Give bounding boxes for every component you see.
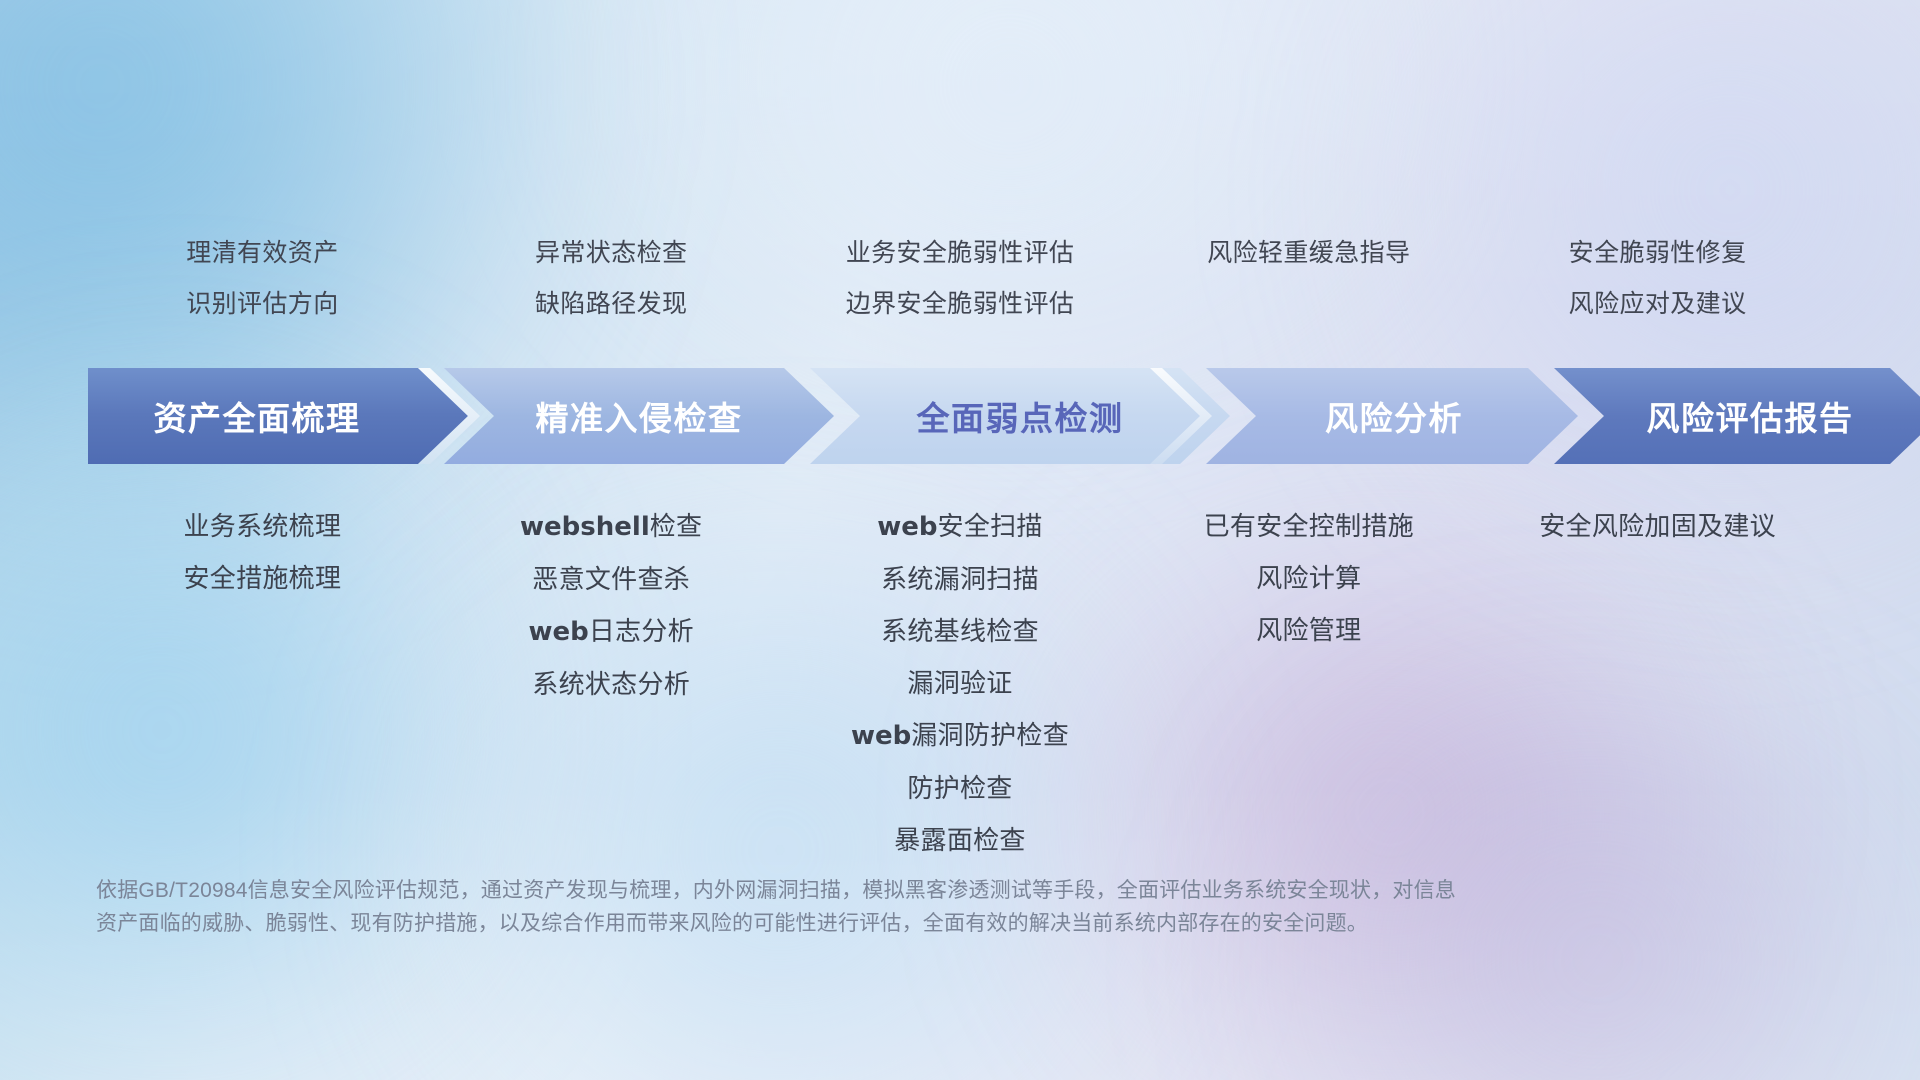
slide-canvas: 理清有效资产 识别评估方向 异常状态检查 缺陷路径发现 业务安全脆弱性评估 边界… <box>0 0 1920 1080</box>
bottom-items-column-5: 安全风险加固及建议 <box>1483 500 1832 552</box>
list-item: web安全扫描 <box>877 500 1042 553</box>
list-item: 恶意文件查杀 <box>532 553 690 605</box>
list-item-latin: web <box>877 512 937 542</box>
list-item-cjk: 安全扫描 <box>938 511 1043 541</box>
list-item-cjk: 日志分析 <box>589 616 694 646</box>
list-item-latin: web <box>528 617 588 647</box>
list-item: 风险计算 <box>1256 552 1361 604</box>
list-item: 系统漏洞扫描 <box>881 553 1039 605</box>
list-item-latin: webshell <box>520 512 650 542</box>
top-note: 边界安全脆弱性评估 <box>846 279 1075 330</box>
list-item-cjk: 检查 <box>650 511 703 541</box>
bottom-items-column-3: web安全扫描 系统漏洞扫描 系统基线检查 漏洞验证 web漏洞防护检查 防护检… <box>786 500 1135 866</box>
process-arrow-band: 资产全面梳理 精准入侵检查 全面弱点检测 风险分析 风险评估报告 <box>88 368 1840 464</box>
diagram-content: 理清有效资产 识别评估方向 异常状态检查 缺陷路径发现 业务安全脆弱性评估 边界… <box>0 0 1920 1080</box>
bottom-items-row: 业务系统梳理 安全措施梳理 webshell检查 恶意文件查杀 web日志分析 … <box>88 500 1832 866</box>
footer-line-1: 依据GB/T20984信息安全风险评估规范，通过资产发现与梳理，内外网漏洞扫描，… <box>96 874 1656 907</box>
footer-line-2: 资产面临的威胁、脆弱性、现有防护措施，以及综合作用而带来风险的可能性进行评估，全… <box>96 907 1656 940</box>
list-item: 防护检查 <box>907 762 1012 814</box>
list-item: web日志分析 <box>528 605 693 658</box>
list-item-latin: web <box>851 721 911 751</box>
list-item: 风险管理 <box>1256 604 1361 656</box>
stage-arrow-label: 风险分析 <box>1325 392 1463 440</box>
list-item: 系统状态分析 <box>532 658 690 710</box>
bottom-items-column-4: 已有安全控制措施 风险计算 风险管理 <box>1134 500 1483 656</box>
top-note: 安全脆弱性修复 <box>1569 228 1747 279</box>
stage-arrow-label: 精准入侵检查 <box>536 392 743 440</box>
list-item-cjk: 漏洞防护检查 <box>911 720 1069 750</box>
footer-description: 依据GB/T20984信息安全风险评估规范，通过资产发现与梳理，内外网漏洞扫描，… <box>96 874 1656 940</box>
bottom-items-column-2: webshell检查 恶意文件查杀 web日志分析 系统状态分析 <box>437 500 786 710</box>
top-notes-column-1: 理清有效资产 识别评估方向 <box>88 228 437 330</box>
stage-arrow-weakness-detection[interactable]: 全面弱点检测 <box>810 368 1230 464</box>
stage-arrow-label: 风险评估报告 <box>1647 392 1854 440</box>
list-item: 系统基线检查 <box>881 605 1039 657</box>
list-item: webshell检查 <box>520 500 702 553</box>
list-item: web漏洞防护检查 <box>851 709 1069 762</box>
top-notes-column-4: 风险轻重缓急指导 <box>1134 228 1483 330</box>
stage-arrow-label: 资产全面梳理 <box>154 392 361 440</box>
list-item: 暴露面检查 <box>894 814 1026 866</box>
stage-arrow-asset-inventory[interactable]: 资产全面梳理 <box>88 368 468 464</box>
top-note: 业务安全脆弱性评估 <box>846 228 1075 279</box>
top-notes-row: 理清有效资产 识别评估方向 异常状态检查 缺陷路径发现 业务安全脆弱性评估 边界… <box>88 228 1832 330</box>
top-notes-column-3: 业务安全脆弱性评估 边界安全脆弱性评估 <box>786 228 1135 330</box>
list-item: 业务系统梳理 <box>183 500 341 552</box>
top-note: 风险轻重缓急指导 <box>1207 228 1410 279</box>
top-note: 理清有效资产 <box>186 228 338 279</box>
list-item: 已有安全控制措施 <box>1204 500 1414 552</box>
list-item: 安全风险加固及建议 <box>1539 500 1776 552</box>
top-notes-column-2: 异常状态检查 缺陷路径发现 <box>437 228 786 330</box>
stage-arrow-label: 全面弱点检测 <box>917 392 1124 440</box>
top-notes-column-5: 安全脆弱性修复 风险应对及建议 <box>1483 228 1832 330</box>
stage-arrow-risk-analysis[interactable]: 风险分析 <box>1206 368 1578 464</box>
list-item: 漏洞验证 <box>907 657 1012 709</box>
bottom-items-column-1: 业务系统梳理 安全措施梳理 <box>88 500 437 604</box>
stage-arrow-risk-report[interactable]: 风险评估报告 <box>1554 368 1920 464</box>
stage-arrow-intrusion-check[interactable]: 精准入侵检查 <box>444 368 834 464</box>
top-note: 缺陷路径发现 <box>535 279 687 330</box>
top-note: 识别评估方向 <box>186 279 338 330</box>
list-item: 安全措施梳理 <box>183 552 341 604</box>
top-note: 异常状态检查 <box>535 228 687 279</box>
top-note: 风险应对及建议 <box>1569 279 1747 330</box>
